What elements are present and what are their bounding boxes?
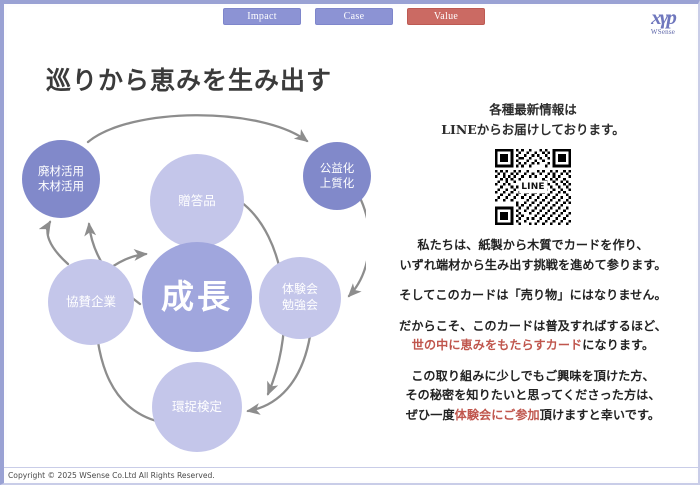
paragraph-3: だからこそ、このカードは普及すればするほど、 世の中に恵みをもたらすカードになり… [366,317,700,356]
bubble-taikenkai-line1: 体験会 [282,282,318,298]
page-root: Impact Case Value xγp WSense 巡りから恵みを生み出す [0,0,700,485]
bubble-haizai-line1: 廃材活用 [38,164,84,179]
paragraph-3-tail: になります。 [582,338,654,352]
paragraph-1-line2: いずれ端材から生み出す挑戦を進めて参ります。 [366,256,700,276]
paragraph-2: そしてこのカードは「売り物」にはなりません。 [366,286,700,306]
paragraph-2-line1: そしてこのカードは「売り物」にはなりません。 [366,286,700,306]
bubble-kouekika[interactable]: 公益化 上質化 [303,142,371,210]
qr-center-label: LINE [519,181,547,193]
bubble-kyousan-label: 協賛企業 [66,294,116,311]
wsense-logo-mark-icon: xγp [640,7,686,27]
paragraph-4-head: ぜひ一度 [406,408,455,422]
bubble-kankyo-label: 環捉検定 [172,399,222,416]
wsense-logo-name: WSense [640,28,686,36]
paragraph-4: この取り組みに少しでもご興味を頂けた方、 その秘密を知りたいと思ってくださった方… [366,367,700,426]
bubble-haizai-katsuyo[interactable]: 廃材活用 木材活用 [22,140,100,218]
paragraph-3-line1: だからこそ、このカードは普及すればするほど、 [366,317,700,337]
page-title: 巡りから恵みを生み出す [46,61,332,97]
bubble-zoutouhin[interactable]: 贈答品 [150,154,244,248]
bubble-kouekika-line2: 上質化 [320,176,355,191]
bubble-taikenkai-line2: 勉強会 [282,298,318,314]
right-column: 各種最新情報は LINEからお届けしております。 [366,100,700,426]
bubble-zoutouhin-label: 贈答品 [178,193,216,210]
line-heading-line1: 各種最新情報は [366,100,700,120]
nav-pill-value[interactable]: Value [407,8,485,25]
paragraph-3-highlight: 世の中に恵みをもたらすカード [412,338,582,352]
paragraph-1: 私たちは、紙製から木質でカードを作り、 いずれ端材から生み出す挑戦を進めて参りま… [366,236,700,275]
body-copy: 私たちは、紙製から木質でカードを作り、 いずれ端材から生み出す挑戦を進めて参りま… [366,236,700,426]
nav-pill-case[interactable]: Case [315,8,393,25]
bubble-kyousan-kigyo[interactable]: 協賛企業 [48,259,134,345]
footer-divider [4,467,700,468]
paragraph-4-line3: ぜひ一度体験会にご参加頂けますと幸いです。 [366,406,700,426]
paragraph-3-line2: 世の中に恵みをもたらすカードになります。 [366,336,700,356]
footer-copyright: Copyright © 2025 WSense Co.Ltd All Right… [8,471,215,480]
nav-pill-impact[interactable]: Impact [223,8,301,25]
line-qr-code[interactable]: LINE [495,149,571,225]
paragraph-4-highlight: 体験会にご参加 [455,408,540,422]
bubble-haizai-line2: 木材活用 [38,179,84,194]
bubble-taikenkai[interactable]: 体験会 勉強会 [259,257,341,339]
line-heading: 各種最新情報は LINEからお届けしております。 [366,100,700,140]
paragraph-4-line1: この取り組みに少しでもご興味を頂けた方、 [366,367,700,387]
bubble-kankyo-kentei[interactable]: 環捉検定 [152,362,242,452]
paragraph-1-line1: 私たちは、紙製から木質でカードを作り、 [366,236,700,256]
top-nav: Impact Case Value [4,8,700,30]
bubble-seichou-center[interactable]: 成長 [142,242,252,352]
line-heading-line2: LINEからお届けしております。 [366,120,700,140]
wsense-logo[interactable]: xγp WSense [640,7,686,36]
paragraph-4-tail: 頂けますと幸いです。 [540,408,660,422]
qr-wrap: LINE [366,149,700,225]
bubble-seichou-label: 成長 [161,275,233,319]
paragraph-4-line2: その秘密を知りたいと思ってくださった方は、 [366,386,700,406]
bubble-kouekika-line1: 公益化 [320,161,355,176]
cycle-diagram: 廃材活用 木材活用 贈答品 公益化 上質化 協賛企業 成長 体験会 勉強会 環捉… [10,104,366,444]
